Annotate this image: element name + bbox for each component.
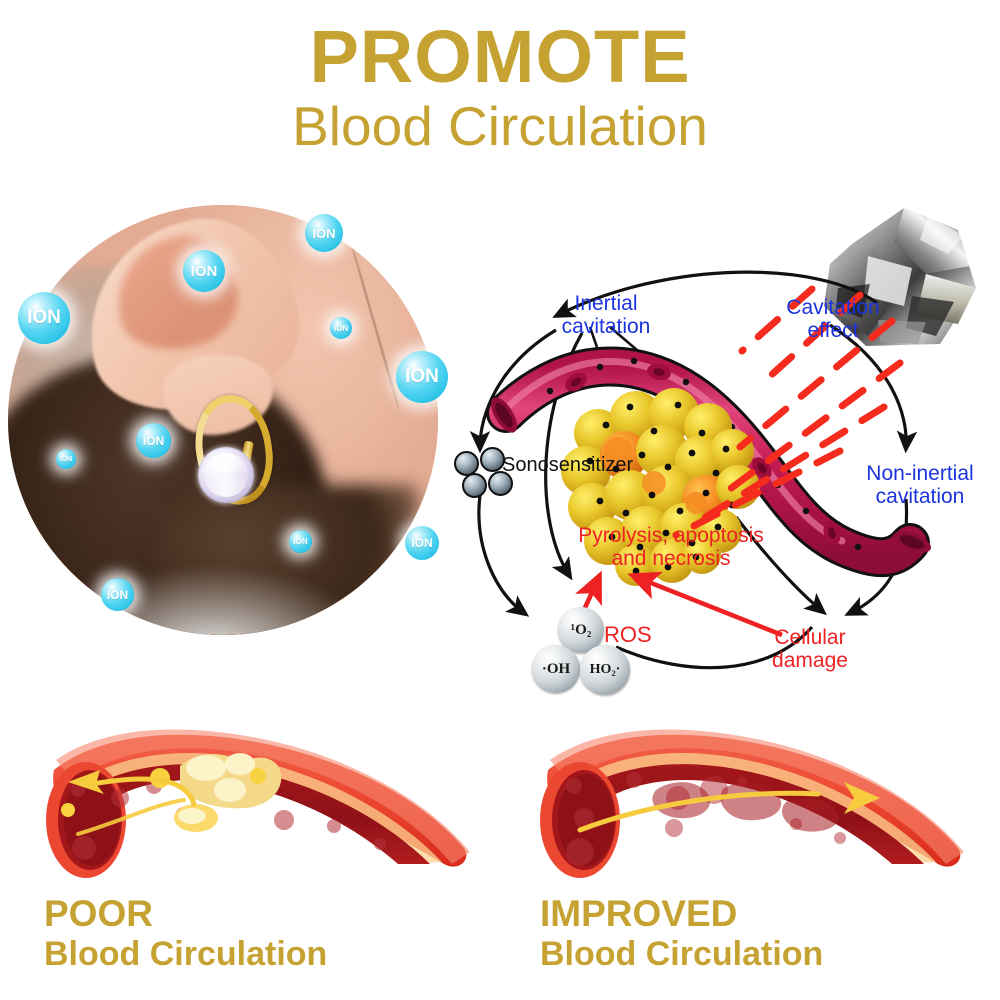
- poor-circulation-caption: POOR Blood Circulation: [44, 894, 327, 974]
- molecule-hydroperoxyl-radical: HO₂·: [580, 645, 630, 695]
- label-cavitation-effect: Cavitation effect: [758, 297, 908, 342]
- page-title: PROMOTE: [0, 14, 1000, 100]
- ear-photo-panel: IONIONIONIONIONIONIONIONIONION: [8, 205, 438, 635]
- promo-infographic: PROMOTE Blood Circulation IONIONIONIONI: [0, 0, 1000, 1000]
- improved-circulation-caption: IMPROVED Blood Circulation: [540, 894, 823, 974]
- sonosensitizer-particle: [480, 447, 505, 472]
- poor-circulation-vessel-illustration: [34, 712, 490, 882]
- molecule-hydroxyl-radical: ·OH: [532, 645, 580, 693]
- ion-bubble: ION: [405, 526, 439, 560]
- page-subtitle: Blood Circulation: [0, 96, 1000, 156]
- earring-crystal-gem: [198, 447, 254, 503]
- photo-bottom-fade: [48, 565, 378, 635]
- improved-circulation-vessel-illustration: [528, 712, 984, 882]
- ion-bubble: ION: [18, 292, 70, 344]
- label-cellular-damage: Cellular damage: [740, 627, 880, 672]
- ion-bubble: ION: [289, 530, 312, 553]
- ion-bubble: ION: [56, 449, 76, 469]
- header: PROMOTE Blood Circulation: [0, 0, 1000, 156]
- ion-bubble: ION: [305, 214, 343, 252]
- sonosensitizer-particle: [488, 471, 513, 496]
- label-non-inertial-cavitation: Non-inertial cavitation: [840, 463, 1000, 508]
- ion-bubble: ION: [330, 317, 352, 339]
- ion-bubble: ION: [183, 250, 225, 292]
- label-pyrolysis-apoptosis-necrosis: Pyrolysis, apoptosis and necrosis: [536, 525, 806, 570]
- improved-caption-title: IMPROVED: [540, 894, 823, 934]
- improved-caption-subtitle: Blood Circulation: [540, 934, 823, 974]
- sonosensitizer-particle: [462, 473, 487, 498]
- label-ros: ROS: [604, 623, 674, 647]
- poor-caption-title: POOR: [44, 894, 327, 934]
- label-inertial-cavitation: Inertial cavitation: [536, 293, 676, 338]
- ion-bubble: ION: [101, 578, 134, 611]
- poor-caption-subtitle: Blood Circulation: [44, 934, 327, 974]
- label-sonosensitizer: Sonosensitizer: [502, 455, 672, 477]
- ion-bubble: ION: [136, 423, 171, 458]
- mechanism-diagram: Inertial cavitation Cavitation effect No…: [440, 255, 1000, 715]
